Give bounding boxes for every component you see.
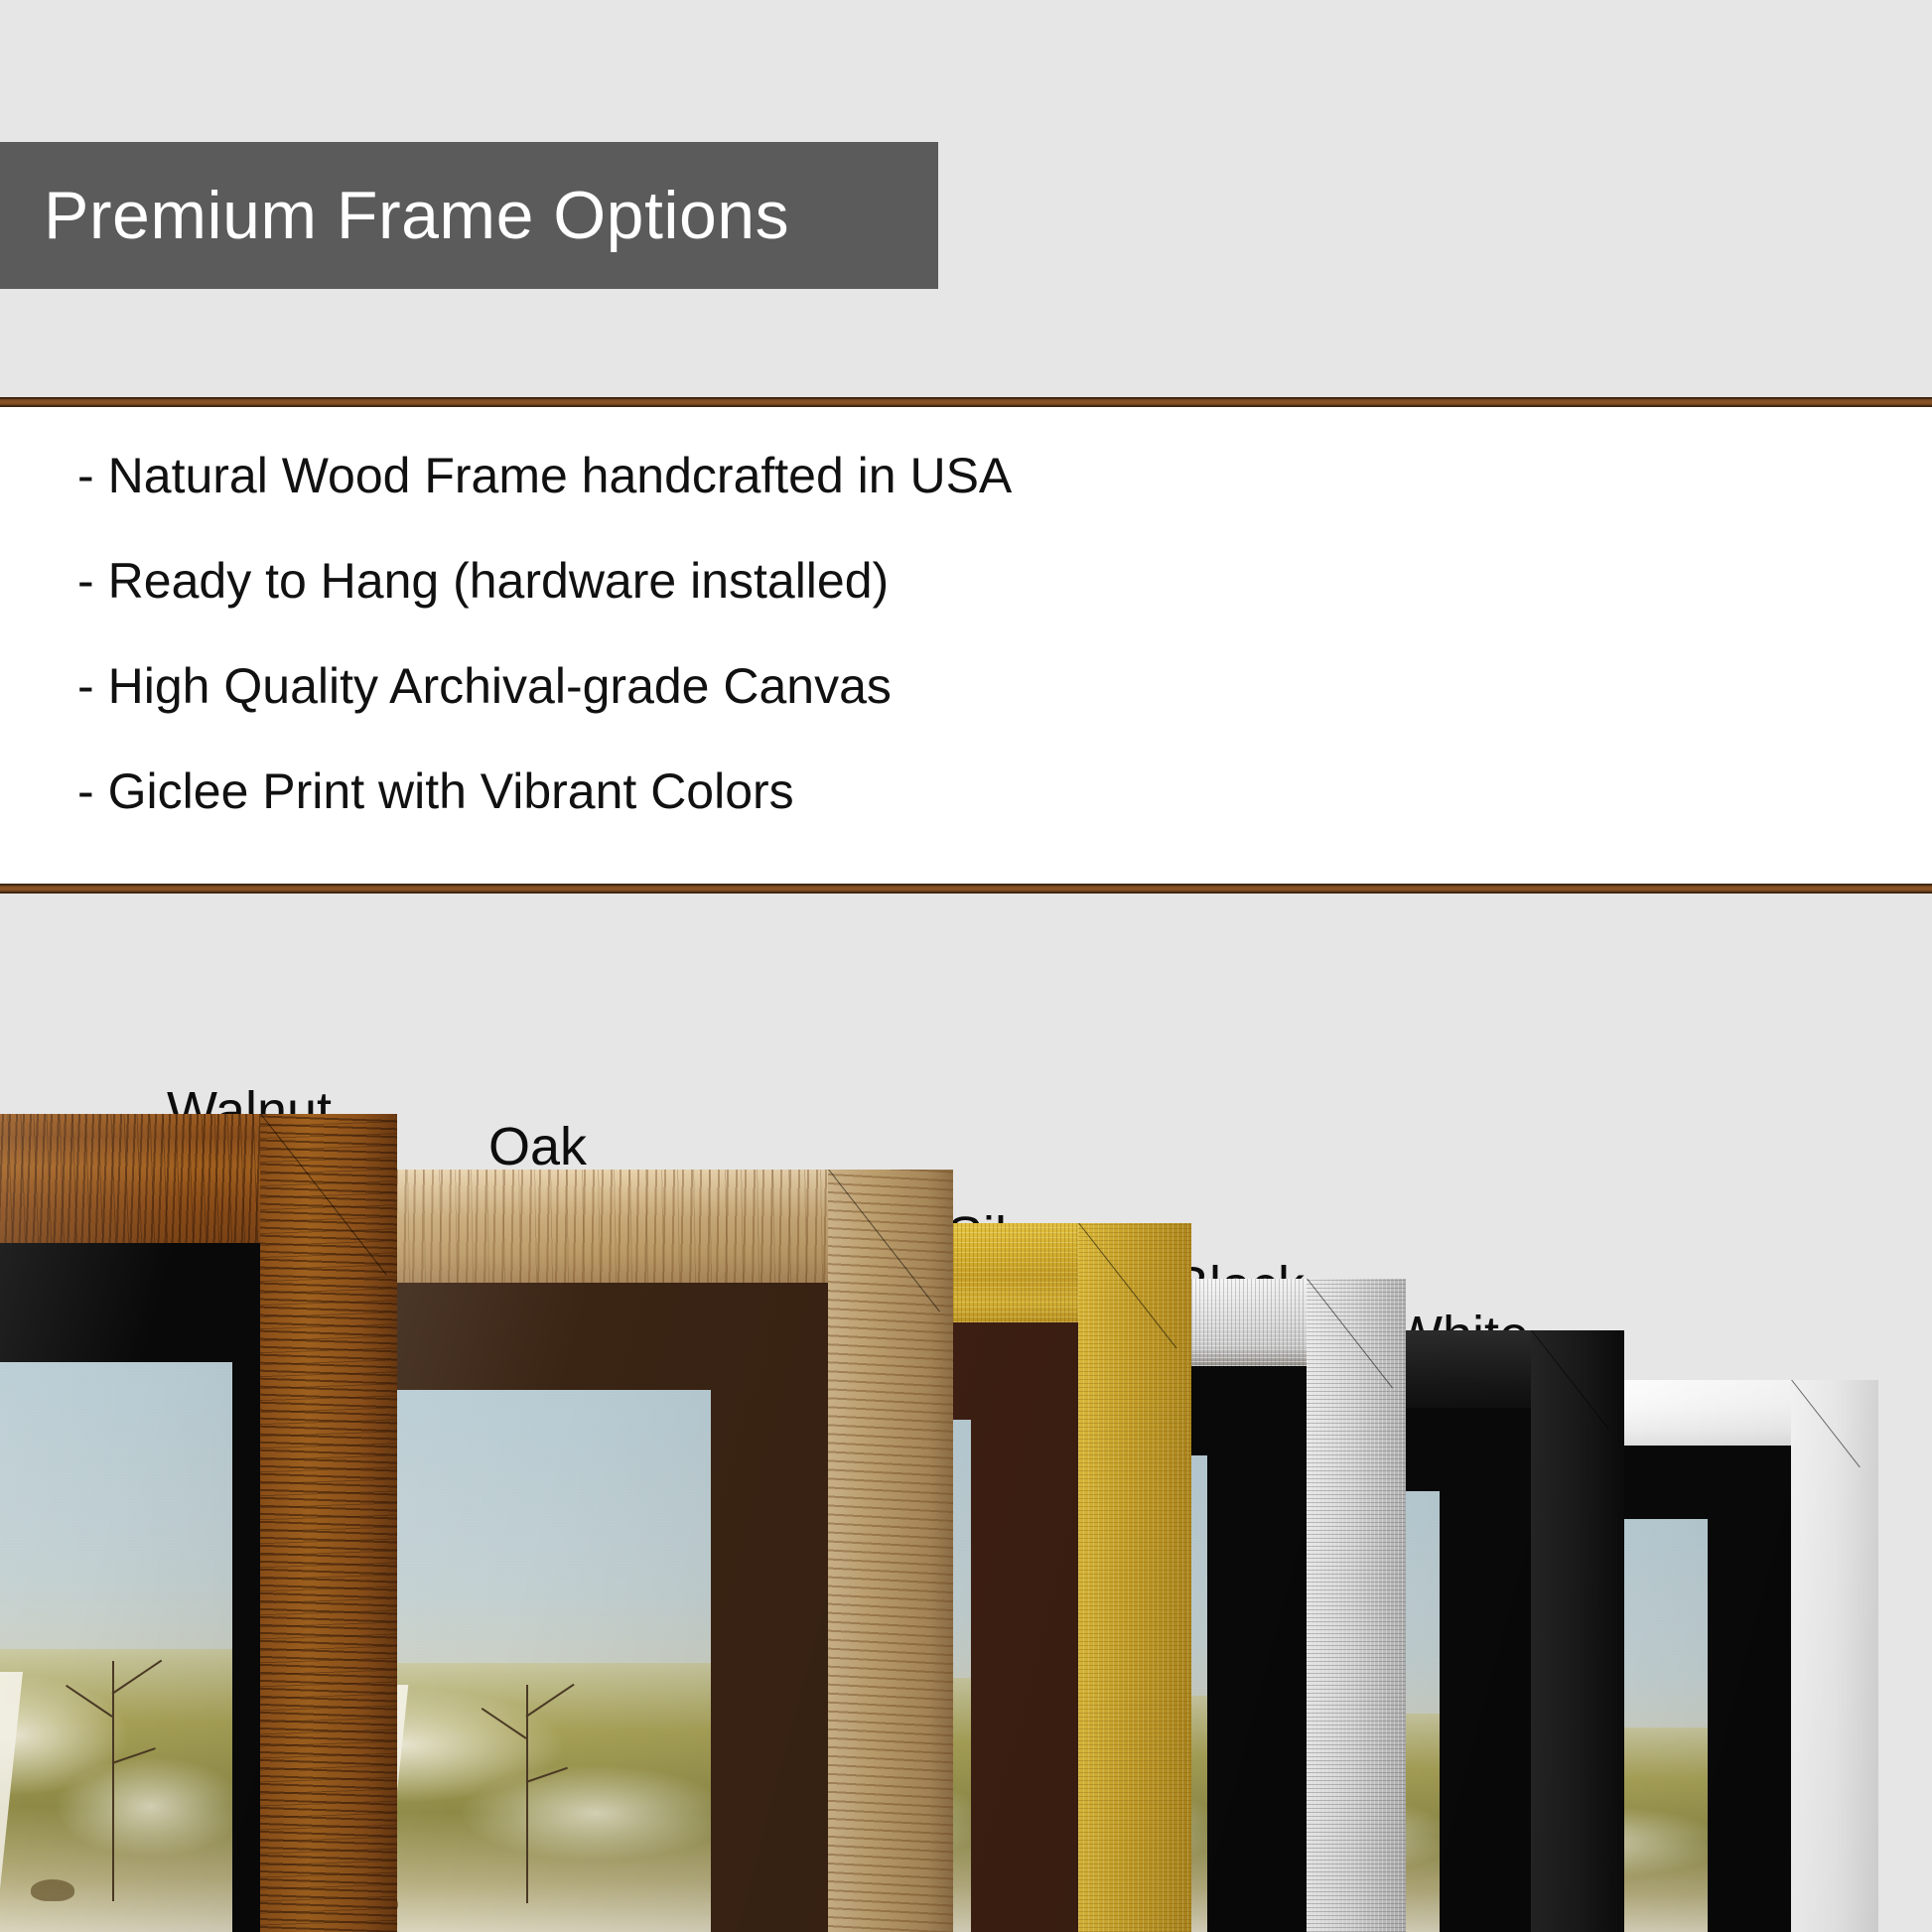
feature-text: Natural Wood Frame handcrafted in USA [108, 448, 1013, 503]
feature-text: Ready to Hang (hardware installed) [108, 553, 890, 609]
divider-bottom [0, 884, 1932, 894]
frame-sample-walnut[interactable] [0, 1114, 397, 1932]
page-title: Premium Frame Options [0, 182, 789, 249]
header-zone: Premium Frame Options [0, 0, 1932, 400]
bullet-marker-icon: - [77, 766, 94, 816]
frame-options-showcase: Walnut Oak Gold Silver Black White [0, 894, 1932, 1932]
feature-item: -Giclee Print with Vibrant Colors [77, 766, 1932, 816]
frame-moulding-side [260, 1114, 397, 1932]
feature-text: Giclee Print with Vibrant Colors [108, 763, 794, 819]
frame-moulding-side [1791, 1380, 1878, 1932]
bullet-marker-icon: - [77, 556, 94, 606]
canvas-artwork [0, 1362, 232, 1932]
frame-moulding-side [1531, 1330, 1624, 1932]
feature-item: -High Quality Archival-grade Canvas [77, 661, 1932, 711]
bullet-marker-icon: - [77, 661, 94, 711]
title-banner: Premium Frame Options [0, 142, 938, 289]
feature-item: -Ready to Hang (hardware installed) [77, 556, 1932, 606]
divider-top [0, 397, 1932, 407]
frame-moulding-top [0, 1114, 260, 1243]
frame-moulding-side [828, 1170, 953, 1932]
feature-item: -Natural Wood Frame handcrafted in USA [77, 451, 1932, 500]
product-detail-image: Premium Frame Options -Natural Wood Fram… [0, 0, 1932, 1932]
feature-text: High Quality Archival-grade Canvas [108, 658, 892, 714]
frame-moulding-side [1307, 1279, 1406, 1932]
frame-label-oak: Oak [488, 1120, 587, 1173]
frame-moulding-side [1078, 1223, 1191, 1932]
bullet-marker-icon: - [77, 451, 94, 500]
features-panel: -Natural Wood Frame handcrafted in USA -… [0, 407, 1932, 884]
